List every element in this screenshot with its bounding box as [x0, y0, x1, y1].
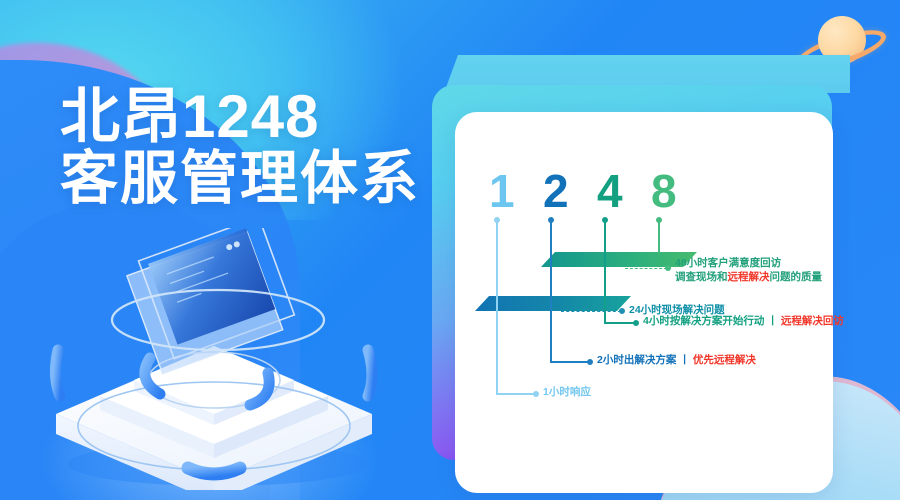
label-dot-48h: [665, 265, 671, 271]
label-2h-accent: 优先远程解决: [693, 354, 756, 366]
title-line-1: 北昂1248: [60, 86, 420, 148]
label-2h: 2小时出解决方案丨优先远程解决: [597, 353, 756, 367]
title-line-2: 客服管理体系: [60, 148, 420, 210]
label-2h-text: 2小时出解决方案: [597, 354, 676, 366]
connector-line-4: [604, 220, 606, 323]
connector-line-2: [550, 220, 552, 362]
connector-dot-4: [602, 217, 608, 223]
connector-elbow-1: [496, 393, 535, 395]
content-card: 1 2 4 8: [432, 55, 850, 467]
poster-canvas: 北昂1248 客服管理体系: [0, 0, 900, 500]
label-4h-separator: 丨: [764, 315, 781, 327]
bar-48h: [541, 252, 697, 267]
label-48h-accent: 远程解决: [728, 271, 770, 283]
milestone-number-2: 2: [543, 168, 569, 214]
connector-elbow-2: [550, 361, 589, 363]
label-48h-line2: 调查现场和远程解决问题的质量: [675, 270, 822, 284]
label-dot-4: [633, 320, 639, 326]
label-4h-text: 4小时按解决方案开始行动: [643, 315, 764, 327]
label-dot-24h: [619, 308, 625, 314]
label-4h: 4小时按解决方案开始行动丨远程解决回访: [643, 314, 844, 328]
connector-elbow-4: [604, 322, 635, 324]
label-48h-line1: 48小时客户满意度回访: [675, 256, 822, 270]
label-4h-accent: 远程解决回访: [781, 315, 844, 327]
label-dot-2: [587, 359, 593, 365]
connector-dot-2: [548, 217, 554, 223]
label-48h: 48小时客户满意度回访 调查现场和远程解决问题的质量: [675, 256, 822, 284]
bar-24h: [475, 296, 631, 311]
label-1h-text: 1小时响应: [543, 386, 591, 398]
milestone-number-4: 4: [597, 168, 623, 214]
label-48h-part-b: 问题的质量: [770, 271, 823, 283]
timeline-diagram: 1 2 4 8: [455, 112, 833, 493]
label-1h: 1小时响应: [543, 385, 591, 399]
dashed-leader-24h: [561, 311, 621, 312]
label-2h-separator: 丨: [676, 354, 693, 366]
label-dot-1: [533, 391, 539, 397]
label-48h-part-a: 调查现场和: [675, 271, 728, 283]
dashed-leader-48h: [625, 268, 667, 269]
poster-title: 北昂1248 客服管理体系: [60, 86, 420, 210]
platform-illustration-svg: [28, 228, 400, 490]
connector-line-8: [658, 220, 660, 253]
platform-illustration: [28, 228, 400, 490]
milestone-number-1: 1: [489, 168, 515, 214]
connector-line-1: [496, 220, 498, 394]
connector-dot-8: [656, 217, 662, 223]
connector-dot-1: [494, 217, 500, 223]
milestone-number-8: 8: [651, 168, 677, 214]
